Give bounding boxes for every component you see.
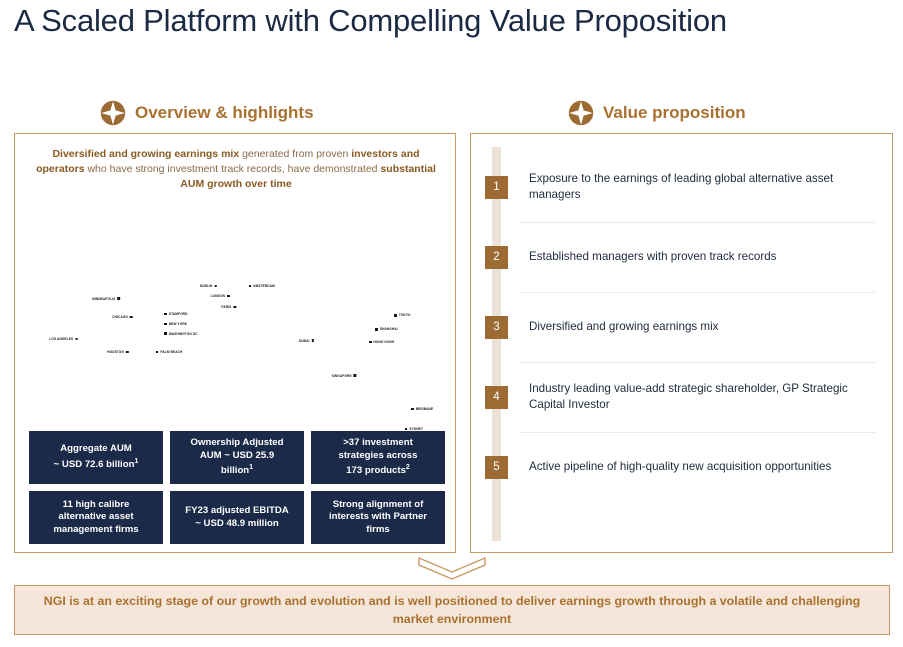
value-proposition-number-badge: 1 xyxy=(485,176,508,199)
map-pin-icon xyxy=(117,297,120,300)
value-proposition-panel: 1Exposure to the earnings of leading glo… xyxy=(470,133,893,553)
map-city-label: PALM BEACH xyxy=(156,350,183,354)
map-pin-icon xyxy=(249,285,252,288)
map-city-label: HOUSTON xyxy=(107,350,128,354)
map-city-name: CHICAGO xyxy=(112,315,128,319)
map-city-name: BRISBANE xyxy=(416,407,433,411)
chevron-down-icon xyxy=(417,556,487,582)
stat-box-text: >37 investmentstrategies across173 produ… xyxy=(339,437,418,478)
stat-box: Ownership AdjustedAUM ~ USD 25.9billion1 xyxy=(170,431,304,484)
overview-panel: Diversified and growing earnings mix gen… xyxy=(14,133,456,553)
value-proposition-item: 3Diversified and growing earnings mix xyxy=(471,292,892,362)
map-city-label: CHICAGO xyxy=(112,315,132,319)
map-city-name: LOS ANGELES xyxy=(49,337,73,341)
intro-segment: Diversified and growing earnings mix xyxy=(52,148,239,160)
stat-box: Aggregate AUM~ USD 72.6 billion1 xyxy=(29,431,163,484)
map-pin-icon xyxy=(130,316,133,319)
section-header-value-proposition: Value proposition xyxy=(568,100,746,126)
stat-box-text: FY23 adjusted EBITDA~ USD 48.9 million xyxy=(185,505,288,530)
map-city-name: HOUSTON xyxy=(107,350,124,354)
map-pin-icon xyxy=(311,339,314,342)
stat-box-footnote: 2 xyxy=(406,464,410,471)
value-proposition-text: Diversified and growing earnings mix xyxy=(529,319,718,335)
stat-box-text: 11 high calibrealternative assetmanageme… xyxy=(53,499,138,537)
map-pin-icon xyxy=(164,313,167,316)
statistics-grid: Aggregate AUM~ USD 72.6 billion1Ownershi… xyxy=(29,431,445,544)
map-city-label: DUBAI xyxy=(299,339,314,343)
map-pin-icon xyxy=(126,351,129,354)
value-proposition-item: 5Active pipeline of high-quality new acq… xyxy=(471,432,892,502)
bottom-banner: NGI is at an exciting stage of our growt… xyxy=(14,585,890,635)
stat-box-text: Strong alignment ofinterests with Partne… xyxy=(329,499,427,537)
value-proposition-text: Active pipeline of high-quality new acqu… xyxy=(529,459,831,475)
stat-box: 11 high calibrealternative assetmanageme… xyxy=(29,491,163,544)
map-pin-icon xyxy=(405,428,408,431)
map-city-label: MINNEAPOLIS xyxy=(92,297,120,301)
map-city-name: STAMFORD xyxy=(169,312,188,316)
value-proposition-list: 1Exposure to the earnings of leading glo… xyxy=(471,152,892,502)
map-city-name: DUBLIN xyxy=(200,284,213,288)
diamond-star-icon xyxy=(100,100,126,126)
map-city-name: SHANGHAI xyxy=(380,327,398,331)
map-city-label: TOKYO xyxy=(394,313,410,317)
map-city-label: NEW YORK xyxy=(164,322,187,326)
intro-segment: who have strong investment track records… xyxy=(85,163,381,175)
stat-box-footnote: 1 xyxy=(249,464,253,471)
map-city-label: STAMFORD xyxy=(164,312,187,316)
map-pin-icon xyxy=(75,338,78,341)
map-city-label: PARIS xyxy=(221,305,236,309)
value-proposition-number-badge: 3 xyxy=(485,316,508,339)
map-city-label: LOS ANGELES xyxy=(49,337,77,341)
section-header-overview-label: Overview & highlights xyxy=(135,103,314,123)
map-city-name: SINGAPORE xyxy=(332,374,352,378)
value-proposition-text: Exposure to the earnings of leading glob… xyxy=(529,171,876,203)
map-pin-icon xyxy=(233,306,236,309)
map-city-name: WASHINGTON DC xyxy=(169,332,198,336)
map-pin-icon xyxy=(164,323,167,326)
map-pin-icon xyxy=(214,285,217,288)
map-pin-icon xyxy=(354,374,357,377)
map-city-label: HONG KONG xyxy=(369,340,395,344)
value-proposition-number-badge: 2 xyxy=(485,246,508,269)
value-proposition-text: Established managers with proven track r… xyxy=(529,249,776,265)
stat-box-text: Aggregate AUM~ USD 72.6 billion1 xyxy=(54,443,139,471)
value-proposition-number-badge: 4 xyxy=(485,386,508,409)
map-city-name: LONDON xyxy=(211,294,225,298)
map-city-name: AMSTERDAM xyxy=(253,284,275,288)
bottom-banner-text: NGI is at an exciting stage of our growt… xyxy=(41,592,863,628)
map-city-name: PALM BEACH xyxy=(160,350,182,354)
map-city-label: BRISBANE xyxy=(411,407,433,411)
value-proposition-text: Industry leading value-add strategic sha… xyxy=(529,381,876,413)
intro-segment: generated from proven xyxy=(239,148,351,160)
section-header-value-proposition-label: Value proposition xyxy=(603,103,746,123)
overview-intro-text: Diversified and growing earnings mix gen… xyxy=(27,147,445,192)
map-city-name: DUBAI xyxy=(299,339,310,343)
map-city-label: WASHINGTON DC xyxy=(164,332,197,336)
map-city-label: SINGAPORE xyxy=(332,374,357,378)
stat-box: FY23 adjusted EBITDA~ USD 48.9 million xyxy=(170,491,304,544)
page-title: A Scaled Platform with Compelling Value … xyxy=(14,2,774,40)
map-pin-icon xyxy=(156,351,159,354)
map-city-name: MINNEAPOLIS xyxy=(92,297,115,301)
map-city-name: HONG KONG xyxy=(374,340,395,344)
stat-box: >37 investmentstrategies across173 produ… xyxy=(311,431,445,484)
map-pin-icon xyxy=(227,295,230,298)
value-proposition-item: 2Established managers with proven track … xyxy=(471,222,892,292)
map-city-name: NEW YORK xyxy=(169,322,187,326)
map-pin-icon xyxy=(411,408,414,411)
value-proposition-number-badge: 5 xyxy=(485,456,508,479)
map-pin-icon xyxy=(164,332,167,335)
map-city-name: PARIS xyxy=(221,305,231,309)
map-city-name: TOKYO xyxy=(399,313,411,317)
map-city-label: LONDON xyxy=(211,294,230,298)
map-city-label: AMSTERDAM xyxy=(249,284,275,288)
map-pin-icon xyxy=(375,328,378,331)
value-proposition-item: 1Exposure to the earnings of leading glo… xyxy=(471,152,892,222)
map-city-label: DUBLIN xyxy=(200,284,217,288)
value-proposition-item: 4Industry leading value-add strategic sh… xyxy=(471,362,892,432)
stat-box: Strong alignment ofinterests with Partne… xyxy=(311,491,445,544)
section-header-overview: Overview & highlights xyxy=(100,100,314,126)
stat-box-text: Ownership AdjustedAUM ~ USD 25.9billion1 xyxy=(191,437,284,478)
stat-box-footnote: 1 xyxy=(134,458,138,465)
map-pin-icon xyxy=(369,341,372,344)
map-city-label: SHANGHAI xyxy=(375,327,397,331)
map-pin-icon xyxy=(394,314,397,317)
diamond-star-icon xyxy=(568,100,594,126)
